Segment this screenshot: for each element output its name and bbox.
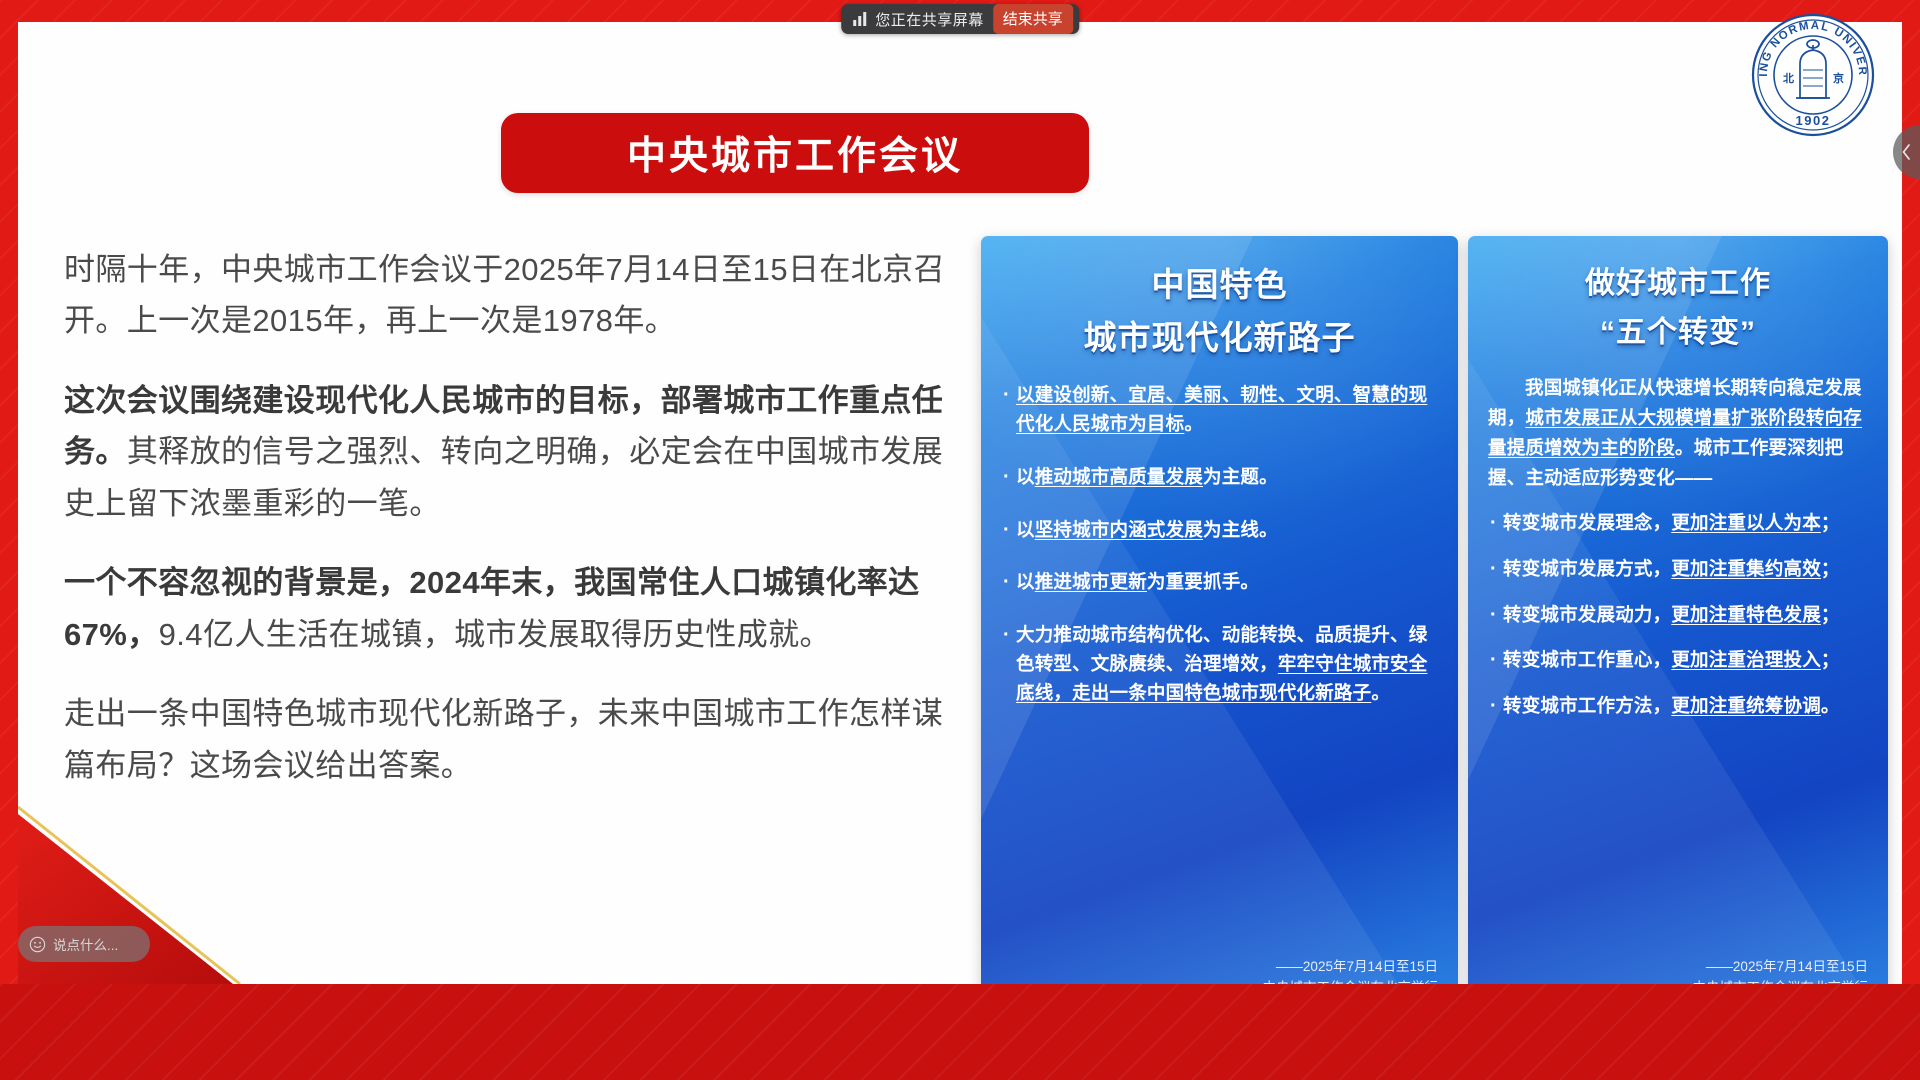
poster-1-heading-line-2: 城市现代化新路子 [1001, 311, 1438, 359]
poster-2-bullet: 转变城市工作重心，更加注重治理投入； [1488, 646, 1868, 675]
poster-2-bullet-lead: 转变城市发展方式， [1503, 558, 1671, 579]
poster-2-bullet-tail: 。 [1821, 695, 1840, 716]
poster-1-heading: 中国特色 城市现代化新路子 [1001, 252, 1438, 359]
smiley-icon [29, 936, 46, 953]
presentation-stage: 中央城市工作会议 时隔十年，中央城市工作会议于2025年7月14日至15日在北京… [0, 0, 1920, 1080]
poster-2-bullet-lead: 转变城市发展动力， [1503, 604, 1671, 625]
poster-1-heading-line-1: 中国特色 [1001, 258, 1438, 306]
svg-text:北: 北 [1783, 71, 1794, 85]
poster-2-heading-line-2: “五个转变” [1488, 307, 1868, 351]
poster-1-bullet: 大力推动城市结构优化、动能转换、品质提升、绿色转型、文脉赓续、治理增效，牢牢守住… [1001, 621, 1438, 708]
poster-1-bullet: 以推进城市更新为重要抓手。 [1001, 568, 1438, 597]
logo-year: 1902 [1796, 113, 1831, 128]
beijing-normal-university-logo: BEIJING NORMAL UNIVERSITY 北 京 1902 [1750, 12, 1876, 138]
poster-1-credit: ——2025年7月14日至15日中央城市工作会议在北京举行习近平发表重要讲话 [1001, 957, 1438, 984]
poster-2-bullet: 转变城市发展方式，更加注重集约高效； [1488, 555, 1868, 584]
svg-text:京: 京 [1833, 71, 1844, 85]
article-paragraph-2-rest: 其释放的信号之强烈、转向之明确，必定会在中国城市发展史上留下浓墨重彩的一笔。 [64, 434, 943, 520]
poster-2-bullet-tail: ； [1821, 512, 1840, 533]
chat-input-placeholder: 说点什么... [53, 934, 118, 954]
slide-sheet: 中央城市工作会议 时隔十年，中央城市工作会议于2025年7月14日至15日在北京… [18, 22, 1902, 984]
poster-1-bullet-lead: 以 [1016, 571, 1035, 592]
stop-sharing-button[interactable]: 结束共享 [993, 4, 1073, 34]
page-title: 中央城市工作会议 [627, 125, 963, 181]
poster-2-bullet-emphasis: 更加注重集约高效 [1671, 558, 1821, 579]
screen-share-message: 您正在共享屏幕 [875, 9, 984, 30]
poster-2-bullet-tail: ； [1821, 604, 1840, 625]
poster-1-bullet-lead: 以 [1016, 466, 1035, 487]
poster-2-bullet: 转变城市发展理念，更加注重以人为本； [1488, 509, 1868, 538]
poster-2-bullet-lead: 转变城市发展理念， [1503, 512, 1671, 533]
poster-2-bullet-tail: ； [1821, 558, 1840, 579]
article-paragraph-2: 这次会议围绕建设现代化人民城市的目标，部署城市工作重点任务。其释放的信号之强烈、… [64, 375, 974, 529]
poster-2-intro: 我国城镇化正从快速增长期转向稳定发展期，城市发展正从大规模增量扩张阶段转向存量提… [1488, 373, 1868, 493]
poster-1-bullet-lead: 以 [1016, 519, 1035, 540]
poster-card-china-path: 中国特色 城市现代化新路子 以建设创新、宜居、美丽、韧性、文明、智慧的现代化人民… [981, 236, 1458, 984]
slide-title-banner: 中央城市工作会议 [501, 113, 1089, 193]
poster-2-bullet-list: 转变城市发展理念，更加注重以人为本；转变城市发展方式，更加注重集约高效；转变城市… [1488, 509, 1868, 738]
poster-2-bullet-emphasis: 更加注重以人为本 [1671, 512, 1821, 533]
poster-card-five-transformations: 做好城市工作 “五个转变” 我国城镇化正从快速增长期转向稳定发展期，城市发展正从… [1468, 236, 1888, 984]
poster-2-bullet-emphasis: 更加注重统筹协调 [1671, 695, 1821, 716]
poster-1-bullet-tail: 为主题。 [1203, 466, 1278, 487]
poster-2-heading: 做好城市工作 “五个转变” [1488, 252, 1868, 351]
slide-bottom-band [0, 984, 1920, 1080]
chevron-left-icon [1901, 143, 1912, 161]
poster-1-bullet-emphasis: 推动城市高质量发展 [1035, 466, 1203, 487]
article-paragraph-1: 时隔十年，中央城市工作会议于2025年7月14日至15日在北京召开。上一次是20… [64, 244, 974, 347]
article-paragraph-3: 一个不容忽视的背景是，2024年末，我国常住人口城镇化率达67%，9.4亿人生活… [64, 557, 974, 660]
poster-2-credit-line: ——2025年7月14日至15日 [1488, 957, 1868, 977]
poster-1-bullet-tail: 为主线。 [1203, 519, 1278, 540]
poster-2-credit: ——2025年7月14日至15日中央城市工作会议在北京举行习近平发表重要讲话 [1488, 957, 1868, 984]
poster-2-heading-line-1: 做好城市工作 [1488, 258, 1868, 302]
article-body: 时隔十年，中央城市工作会议于2025年7月14日至15日在北京召开。上一次是20… [64, 244, 974, 819]
poster-2-bullet: 转变城市发展动力，更加注重特色发展； [1488, 601, 1868, 630]
poster-1-bullet: 以坚持城市内涵式发展为主线。 [1001, 516, 1438, 545]
poster-1-bullet-emphasis: 推进城市更新 [1035, 571, 1147, 592]
poster-1-bullet-emphasis: 坚持城市内涵式发展 [1035, 519, 1203, 540]
screen-share-banner: 您正在共享屏幕 结束共享 [841, 4, 1079, 34]
poster-1-bullet: 以建设创新、宜居、美丽、韧性、文明、智慧的现代化人民城市为目标。 [1001, 381, 1438, 439]
poster-2-bullet-lead: 转变城市工作方法， [1503, 695, 1671, 716]
poster-1-bullet-tail: 。 [1184, 413, 1203, 434]
poster-1-bullet: 以推动城市高质量发展为主题。 [1001, 463, 1438, 492]
poster-1-bullet-tail: 为重要抓手。 [1147, 571, 1259, 592]
poster-1-bullet-list: 以建设创新、宜居、美丽、韧性、文明、智慧的现代化人民城市为目标。以推动城市高质量… [1001, 381, 1438, 732]
poster-2-bullet-lead: 转变城市工作重心， [1503, 649, 1671, 670]
poster-1-credit-line: ——2025年7月14日至15日 [1001, 957, 1438, 977]
chat-input[interactable]: 说点什么... [18, 926, 150, 962]
poster-1-bullet-emphasis: 以建设创新、宜居、美丽、韧性、文明、智慧的现代化人民城市为目标 [1016, 384, 1427, 434]
article-paragraph-3-rest: 9.4亿人生活在城镇，城市发展取得历史性成就。 [159, 617, 831, 652]
poster-2-bullet-emphasis: 更加注重治理投入 [1671, 649, 1821, 670]
signal-bars-icon [853, 12, 866, 26]
poster-2-bullet: 转变城市工作方法，更加注重统筹协调。 [1488, 692, 1868, 721]
poster-2-bullet-tail: ； [1821, 649, 1840, 670]
article-paragraph-4: 走出一条中国特色城市现代化新路子，未来中国城市工作怎样谋篇布局？这场会议给出答案… [64, 688, 974, 791]
poster-2-bullet-emphasis: 更加注重特色发展 [1671, 604, 1821, 625]
poster-1-bullet-tail: 。 [1371, 682, 1390, 703]
